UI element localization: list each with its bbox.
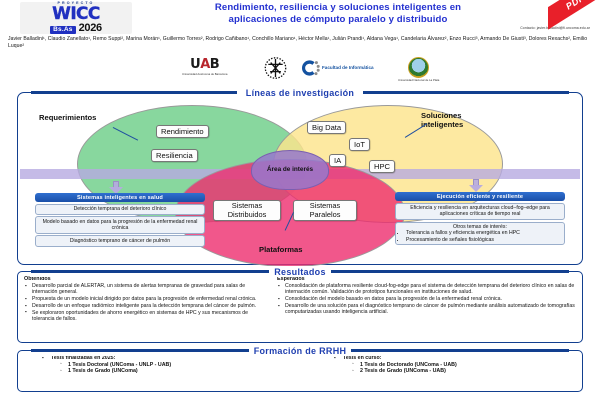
rrhh-banner-title: Formación de RRHH [254,346,347,356]
informatica-c-icon [300,58,320,78]
venn-diagram: Área de interés Rendimiento Resiliencia … [17,97,583,260]
unlp-seal-icon [408,57,429,78]
tag-big-data: Big Data [307,121,346,134]
callout-right-title: Ejecución eficiente y resiliente [395,192,565,201]
banner-bar-right [331,270,569,273]
poster-header: PROYECTO WICC Bs.As 2026 Rendimiento, re… [0,0,600,88]
lineas-banner: Líneas de investigación [31,87,569,98]
resultados-section: Obtenidos Desarrollo parcial de ALERTAR,… [17,266,583,344]
resultados-esperados-column: Esperados Consolidación de plataforma re… [277,276,576,339]
facultad-informatica-logo: Facultad de Informática [300,58,374,78]
callout-sistemas-inteligentes-salud: Sistemas inteligentes en salud Detección… [35,193,205,247]
tag-sistemas-distribuidos: Sistemas Distribuidos [213,200,281,221]
banner-bar-left [31,270,269,273]
callout-ejecucion-eficiente: Ejecución eficiente y resiliente Eficien… [395,192,565,245]
wicc-logo-badge: Bs.As [50,26,75,34]
list-item: 2 Tesis de Grado (UNComa - UAB) [352,368,576,375]
list-item: Consolidación de plataforma resiliente c… [277,283,576,296]
resultados-esperados-list: Consolidación de plataforma resiliente c… [277,283,576,315]
rrhh-banner: Formación de RRHH [31,345,569,356]
pdp-corner-tag: PDP [548,0,600,30]
list-item: 1 Tesis de Grado (UNComa) [60,368,284,375]
arrow-down-right-icon [469,179,483,193]
uab-logo: UAB Universidad Autónoma de Barcelona [182,57,227,76]
banner-bar-left [31,91,237,94]
pdp-tag-label: PDP [564,0,587,11]
venn-label-soluciones: Soluciones inteligentes [421,111,501,129]
wicc-logo: PROYECTO WICC Bs.As 2026 [20,2,132,34]
banner-bar-left [31,349,249,352]
venn-label-requerimientos: Requerimientos [39,113,96,122]
callout-left-title: Sistemas inteligentes en salud [35,193,205,202]
list-item: Desarrollo de una solución para el diagn… [277,303,576,316]
rrhh-finalizadas-column: Tesis finalizadas en 2025: 1 Tesis Docto… [24,355,284,387]
uab-logo-caption: Universidad Autónoma de Barcelona [182,73,227,76]
facultad-informatica-text: Facultad de Informática [322,65,374,70]
tag-sistemas-paralelos: Sistemas Paralelos [293,200,357,221]
list-item: 1 Tesis de Doctorado (UNComa - UAB) [352,362,576,369]
unlp-seal-logo: Universidad Nacional de La Plata [398,57,439,82]
rrhh-panel: Tesis finalizadas en 2025: 1 Tesis Docto… [17,350,583,392]
institution-logos: UAB Universidad Autónoma de Barcelona [0,57,600,87]
callout-right-other-item: Procesamiento de señales fisiológicas [406,237,561,243]
author-list: Javier Balladini¹, Claudio Zanellato¹, R… [8,36,592,50]
poster-title: Rendimiento, resiliencia y soluciones in… [138,2,538,25]
callout-left-item: Diagnóstico temprano de cáncer de pulmón [35,235,205,246]
tag-rendimiento: Rendimiento [156,125,209,138]
unlp-logo [262,56,289,80]
rrhh-section: Tesis finalizadas en 2025: 1 Tesis Docto… [17,345,583,395]
tag-ia: IA [329,154,346,167]
resultados-obtenidos-list: Desarrollo parcial de ALERTAR, un sistem… [24,283,269,322]
callout-right-item-main: Eficiencia y resiliencia en arquitectura… [395,203,565,221]
rrhh-encurso-list: 1 Tesis de Doctorado (UNComa - UAB) 2 Te… [352,362,576,375]
list-item: Consolidación del modelo basado en datos… [277,296,576,302]
unlp-seal-caption: Universidad Nacional de La Plata [398,79,439,82]
venn-label-plataformas: Plataformas [259,245,302,254]
lineas-section: Líneas de investigación Área de interés … [17,87,583,265]
rrhh-encurso-column: Tesis en curso: 1 Tesis de Doctorado (UN… [294,355,576,387]
resultados-obtenidos-column: Obtenidos Desarrollo parcial de ALERTAR,… [24,276,269,339]
resultados-banner: Resultados [31,266,569,277]
wicc-logo-year: 2026 [79,23,102,34]
tag-iot: IoT [349,138,370,151]
list-item: Desarrollo parcial de ALERTAR, un sistem… [24,283,269,296]
lineas-banner-title: Líneas de investigación [242,88,358,98]
list-item: Propuesta de un modelo inicial dirigido … [24,296,269,302]
resultados-panel: Obtenidos Desarrollo parcial de ALERTAR,… [17,271,583,343]
callout-right-others: Otros temas de interés: Tolerancia a fal… [395,222,565,246]
list-item: 1 Tesis Doctoral (UNComa - UNLP - UAB) [60,362,284,369]
list-item: Desarrollo de un enfoque radiómico intel… [24,303,269,309]
rrhh-finalizadas-list: 1 Tesis Doctoral (UNComa - UNLP - UAB) 1… [60,362,284,375]
callout-left-item: Detección temprana del deterioro clínico [35,204,205,215]
tag-hpc: HPC [369,160,395,173]
resultados-banner-title: Resultados [274,267,326,277]
unlp-emblem-icon [262,56,289,80]
poster-canvas: PROYECTO WICC Bs.As 2026 Rendimiento, re… [0,0,600,400]
venn-area-de-interes: Área de interés [251,150,329,190]
poster-title-line2: aplicaciones de cómputo paralelo y distr… [138,14,538,26]
tag-resiliencia: Resiliencia [151,149,198,162]
banner-bar-right [363,91,569,94]
poster-title-line1: Rendimiento, resiliencia y soluciones in… [138,2,538,14]
callout-left-item: Modelo basado en datos para la progresió… [35,216,205,234]
banner-bar-right [351,349,569,352]
list-item: Se exploraron oportunidades de ahorro en… [24,310,269,323]
wicc-logo-wordmark: WICC [52,6,100,23]
